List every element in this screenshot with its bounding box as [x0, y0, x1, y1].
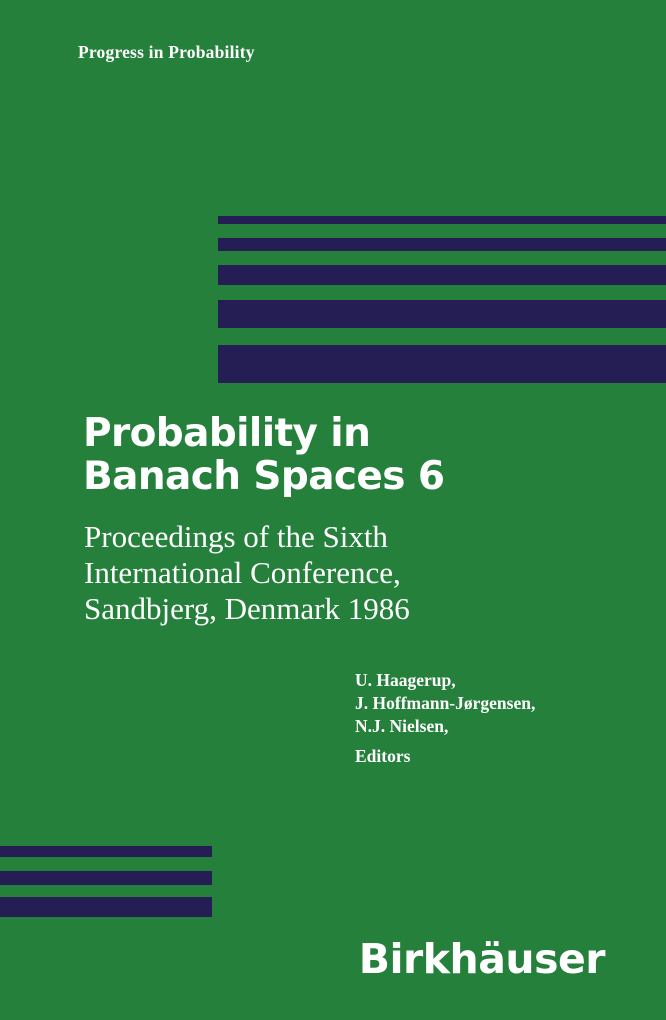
editor-name: N.J. Nielsen,: [355, 715, 535, 738]
book-title-line-1: Probability in: [83, 412, 444, 455]
book-title: Probability in Banach Spaces 6: [83, 412, 444, 498]
editors-block: U. Haagerup, J. Hoffmann-Jørgensen, N.J.…: [355, 669, 535, 768]
top-decorative-bars: [218, 216, 666, 383]
book-subtitle-line-2: International Conference,: [84, 555, 410, 591]
editors-role-label: Editors: [355, 745, 535, 768]
book-subtitle-line-1: Proceedings of the Sixth: [84, 519, 410, 555]
decorative-bar: [218, 238, 666, 251]
series-title: Progress in Probability: [78, 42, 255, 63]
decorative-bar: [218, 300, 666, 328]
decorative-bar: [0, 871, 212, 885]
book-title-line-2: Banach Spaces 6: [83, 455, 444, 498]
editor-name: U. Haagerup,: [355, 669, 535, 692]
decorative-bar: [0, 846, 212, 857]
decorative-bar: [218, 265, 666, 285]
decorative-bar: [218, 216, 666, 224]
editor-name: J. Hoffmann-Jørgensen,: [355, 692, 535, 715]
book-subtitle-line-3: Sandbjerg, Denmark 1986: [84, 591, 410, 627]
bottom-decorative-bars: [0, 846, 212, 917]
publisher-logo: Birkhäuser: [0, 936, 605, 982]
decorative-bar: [218, 345, 666, 383]
book-subtitle: Proceedings of the Sixth International C…: [84, 519, 410, 627]
book-cover: Progress in Probability Probability in B…: [0, 0, 666, 1020]
decorative-bar: [0, 897, 212, 917]
